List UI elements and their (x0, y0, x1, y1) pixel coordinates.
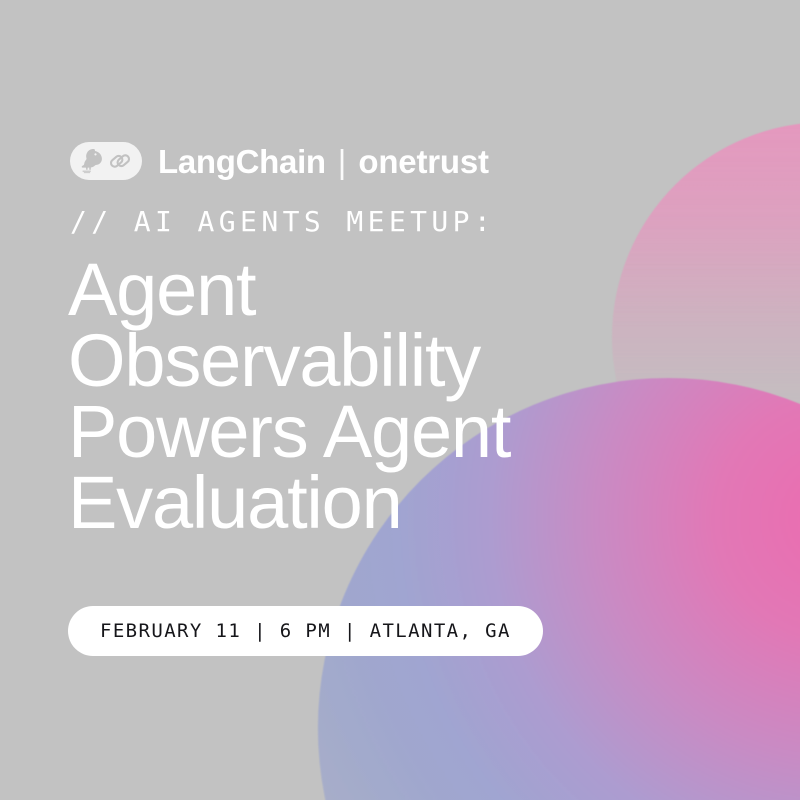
headline-line-3: Powers Agent (68, 396, 768, 467)
brand-lockup: LangChain | onetrust (70, 138, 489, 184)
card-content: LangChain | onetrust // AI AGENTS MEETUP… (0, 0, 800, 800)
brand-wordmark: LangChain | onetrust (158, 145, 489, 178)
event-details-text: FEBRUARY 11 | 6 PM | ATLANTA, GA (100, 620, 511, 642)
parrot-icon (80, 148, 104, 174)
langchain-logo-badge (70, 142, 142, 180)
headline-line-2: Observability (68, 325, 768, 396)
headline-line-1: Agent (68, 254, 768, 325)
event-card-canvas: LangChain | onetrust // AI AGENTS MEETUP… (0, 0, 800, 800)
chain-link-icon (108, 149, 132, 173)
langchain-wordmark: LangChain (158, 145, 326, 178)
eyebrow-text: // AI AGENTS MEETUP: (70, 203, 495, 241)
brand-divider: | (338, 145, 347, 178)
event-details-pill: FEBRUARY 11 | 6 PM | ATLANTA, GA (68, 606, 543, 656)
headline: Agent Observability Powers Agent Evaluat… (68, 254, 768, 538)
headline-line-4: Evaluation (68, 467, 768, 538)
onetrust-wordmark: onetrust (358, 145, 488, 178)
